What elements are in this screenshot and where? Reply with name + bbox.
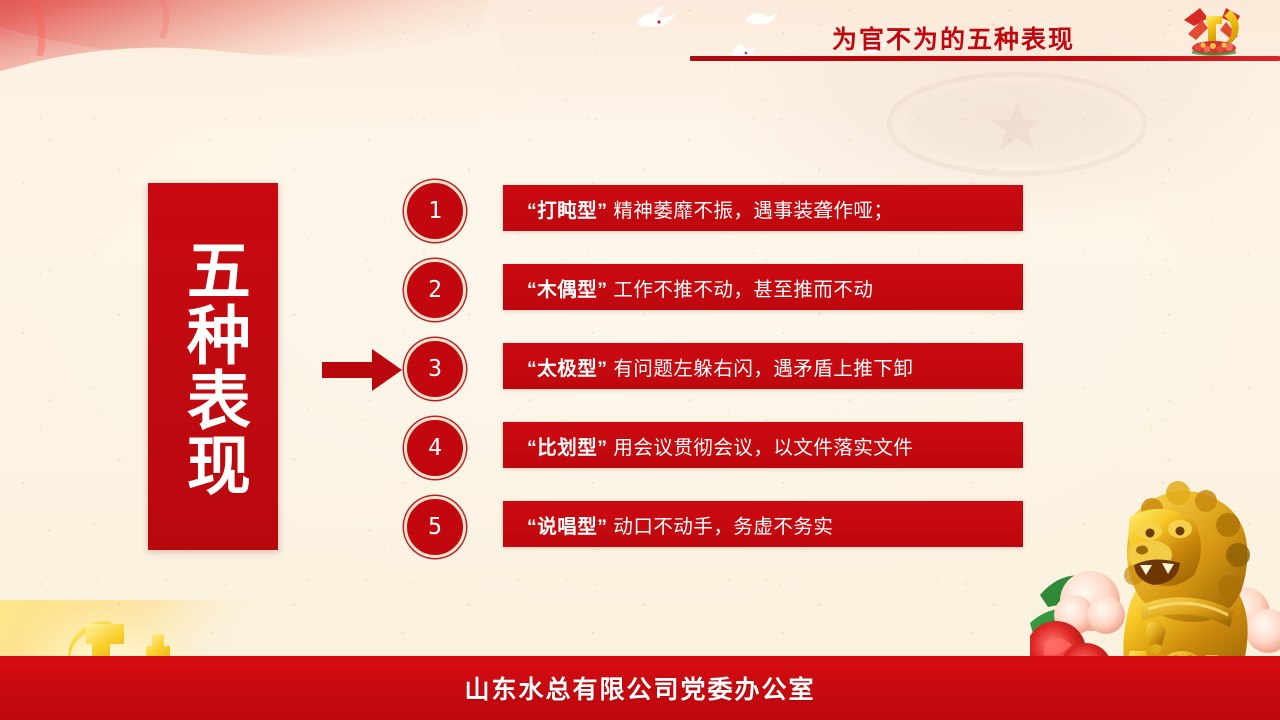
- footer-organization: 山东水总有限公司党委办公室: [464, 670, 815, 706]
- dove-icon: [742, 3, 780, 31]
- item-bar[interactable]: “木偶型” 工作不推不动，甚至推而不动: [503, 264, 1023, 310]
- item-text: “木偶型” 工作不推不动，甚至推而不动: [503, 273, 873, 302]
- dove-icon: [632, 2, 678, 36]
- footer-bar: 山东水总有限公司党委办公室: [0, 656, 1280, 720]
- item-number-badge: 3: [404, 338, 466, 400]
- item-number-badge: 4: [404, 417, 466, 479]
- item-text: “太极型” 有问题左躲右闪，遇矛盾上推下卸: [503, 352, 913, 381]
- five-behaviors-list: 1 “打盹型” 精神萎靡不振，遇事装聋作哑； 2 “木偶型” 工作不推不动，甚至…: [404, 180, 1029, 552]
- list-item[interactable]: 5 “说唱型” 动口不动手，务虚不务实: [404, 496, 1029, 552]
- item-description: 有问题左躲右闪，遇矛盾上推下卸: [613, 358, 913, 380]
- red-flag-icon: [0, 0, 500, 110]
- item-number-badge: 2: [404, 259, 466, 321]
- vertical-title-banner: 五种表现: [148, 183, 278, 550]
- vertical-title-text: 五种表现: [177, 197, 249, 537]
- item-keyword: “打盹型”: [527, 200, 613, 222]
- list-item[interactable]: 3 “太极型” 有问题左躲右闪，遇矛盾上推下卸: [404, 338, 1029, 394]
- item-keyword: “比划型”: [527, 437, 613, 459]
- arrow-right-icon: [322, 347, 404, 393]
- list-item[interactable]: 1 “打盹型” 精神萎靡不振，遇事装聋作哑；: [404, 180, 1029, 236]
- list-item[interactable]: 4 “比划型” 用会议贯彻会议，以文件落实文件: [404, 417, 1029, 473]
- header-divider: [690, 56, 1280, 61]
- page-title: 为官不为的五种表现: [832, 20, 1075, 56]
- item-text: “打盹型” 精神萎靡不振，遇事装聋作哑；: [503, 194, 893, 223]
- item-description: 动口不动手，务虚不务实: [613, 516, 833, 538]
- item-description: 工作不推不动，甚至推而不动: [613, 279, 873, 301]
- item-bar[interactable]: “打盹型” 精神萎靡不振，遇事装聋作哑；: [503, 185, 1023, 231]
- item-keyword: “太极型”: [527, 358, 613, 380]
- item-number-badge: 1: [404, 180, 466, 242]
- item-keyword: “木偶型”: [527, 279, 613, 301]
- item-keyword: “说唱型”: [527, 516, 613, 538]
- list-item[interactable]: 2 “木偶型” 工作不推不动，甚至推而不动: [404, 259, 1029, 315]
- party-emblem-icon: [1178, 2, 1250, 58]
- item-bar[interactable]: “说唱型” 动口不动手，务虚不务实: [503, 501, 1023, 547]
- item-text: “说唱型” 动口不动手，务虚不务实: [503, 510, 833, 539]
- item-text: “比划型” 用会议贯彻会议，以文件落实文件: [503, 431, 913, 460]
- slide-canvas: 为官不为的五种表现 五种表现 1: [0, 0, 1280, 720]
- national-emblem-watermark-icon: [845, 62, 1190, 182]
- item-number-badge: 5: [404, 496, 466, 558]
- item-description: 精神萎靡不振，遇事装聋作哑；: [613, 200, 893, 222]
- item-description: 用会议贯彻会议，以文件落实文件: [613, 437, 913, 459]
- item-bar[interactable]: “太极型” 有问题左躲右闪，遇矛盾上推下卸: [503, 343, 1023, 389]
- item-bar[interactable]: “比划型” 用会议贯彻会议，以文件落实文件: [503, 422, 1023, 468]
